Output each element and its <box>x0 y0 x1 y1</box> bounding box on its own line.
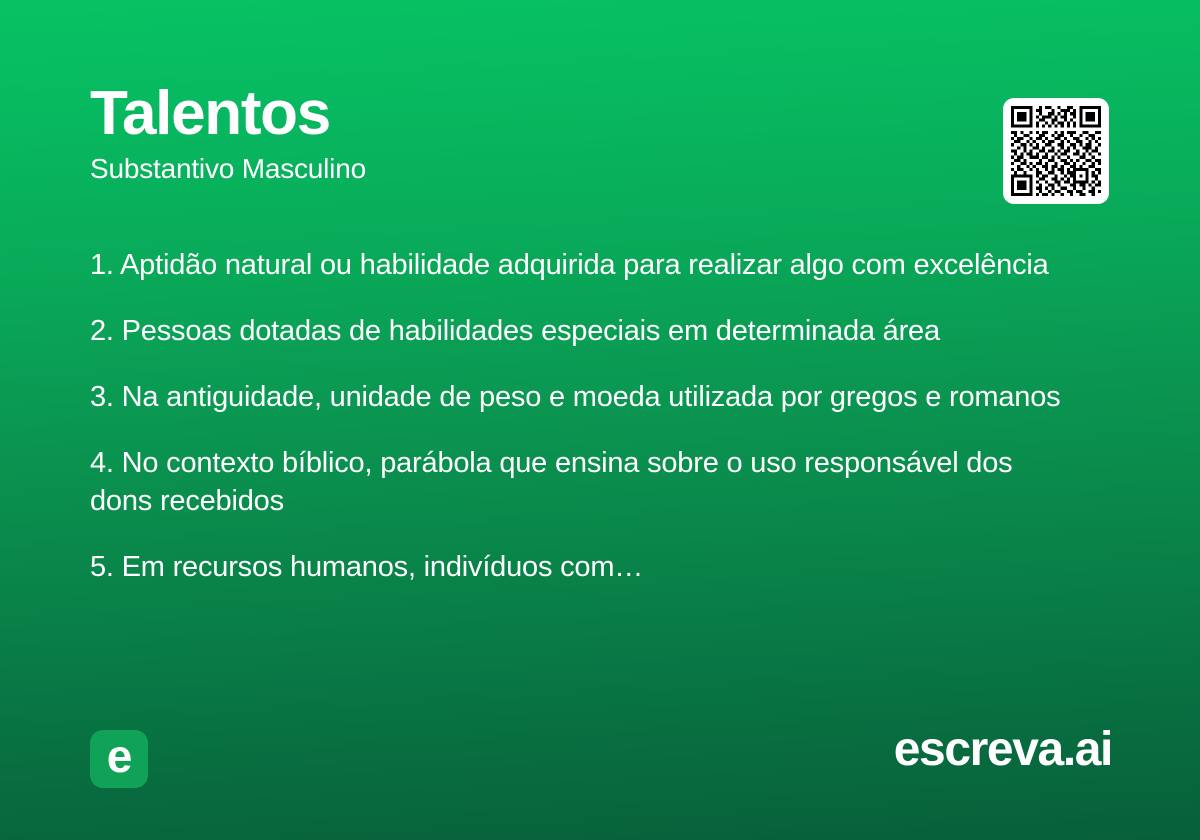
qr-code-icon <box>1011 106 1101 196</box>
definitions-list: 1. Aptidão natural ou habilidade adquiri… <box>90 246 1065 586</box>
definition-card: Talentos Substantivo Masculino <box>0 0 1200 840</box>
card-header: Talentos Substantivo Masculino <box>90 82 970 186</box>
list-item: 1. Aptidão natural ou habilidade adquiri… <box>90 246 1065 284</box>
list-item: 4. No contexto bíblico, parábola que ens… <box>90 444 1065 520</box>
list-item: 3. Na antiguidade, unidade de peso e moe… <box>90 378 1065 416</box>
list-item: 2. Pessoas dotadas de habilidades especi… <box>90 312 1065 350</box>
escreva-logo-icon: e <box>90 730 148 788</box>
brand-wordmark: escreva.ai <box>894 726 1112 774</box>
word-class-subtitle: Substantivo Masculino <box>90 152 970 186</box>
page-title: Talentos <box>90 82 970 146</box>
list-item: 5. Em recursos humanos, indivíduos com… <box>90 548 1065 586</box>
qr-code-panel[interactable] <box>1003 98 1109 204</box>
logo-glyph: e <box>107 733 132 779</box>
card-footer: e escreva.ai <box>0 720 1200 840</box>
